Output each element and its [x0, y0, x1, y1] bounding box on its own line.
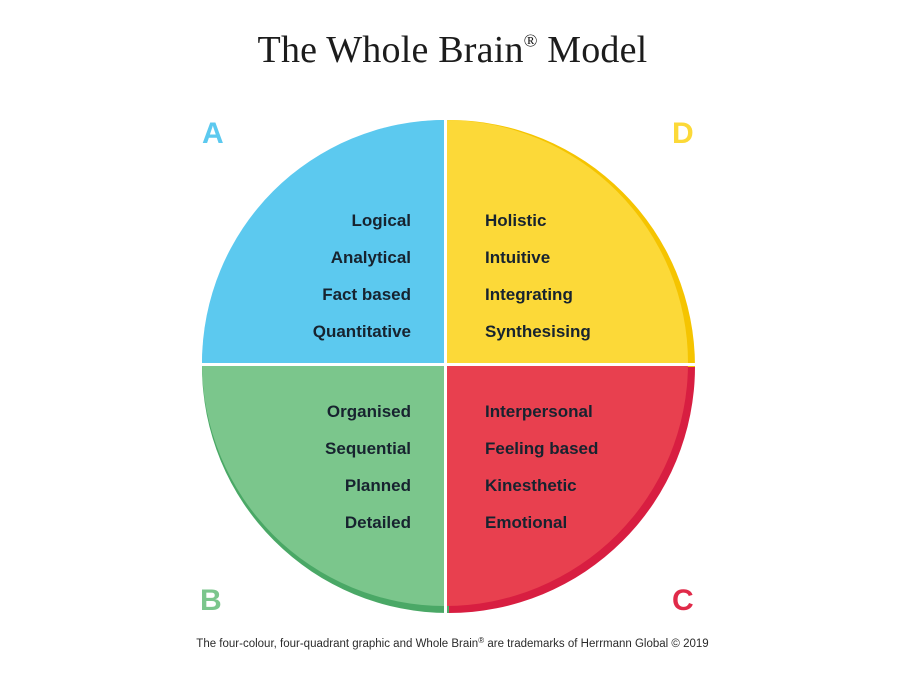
quadrant-a-item: Fact based: [313, 286, 411, 303]
footer-text-suffix: are trademarks of Herrmann Global © 2019: [484, 638, 709, 650]
quadrant-d-item: Holistic: [485, 212, 591, 229]
quadrant-a-item: Quantitative: [313, 323, 411, 340]
quadrant-label-c: C: [672, 586, 694, 616]
quadrant-a-item: Analytical: [313, 249, 411, 266]
quadrant-label-d: D: [672, 119, 694, 149]
quadrant-label-a: A: [202, 119, 224, 149]
quadrant-d-item: Intuitive: [485, 249, 591, 266]
quadrant-a-item: Logical: [313, 212, 411, 229]
footer-text: The four-colour, four-quadrant graphic a…: [196, 638, 478, 650]
quadrant-b-item: Organised: [325, 403, 411, 420]
horizontal-divider: [202, 363, 695, 366]
page-title: The Whole Brain® Model: [0, 28, 905, 72]
quadrant-d-word-list: Holistic Intuitive Integrating Synthesis…: [485, 212, 591, 340]
quadrant-c-item: Feeling based: [485, 440, 598, 457]
quadrant-c-item: Interpersonal: [485, 403, 598, 420]
quadrant-c-item: Kinesthetic: [485, 477, 598, 494]
quadrant-d-item: Synthesising: [485, 323, 591, 340]
quadrant-b-item: Planned: [325, 477, 411, 494]
trademark-footer: The four-colour, four-quadrant graphic a…: [0, 636, 905, 650]
quadrant-c-word-list: Interpersonal Feeling based Kinesthetic …: [485, 403, 598, 531]
quadrant-b-item: Sequential: [325, 440, 411, 457]
quadrant-label-b: B: [200, 586, 222, 616]
registered-trademark-icon: ®: [524, 31, 538, 51]
vertical-divider: [444, 120, 447, 613]
quadrant-d-item: Integrating: [485, 286, 591, 303]
quadrant-b-item: Detailed: [325, 514, 411, 531]
quadrant-b-word-list: Organised Sequential Planned Detailed: [325, 403, 411, 531]
whole-brain-quadrant-diagram: [202, 120, 695, 613]
page-title-suffix: Model: [538, 29, 648, 71]
quadrant-a-word-list: Logical Analytical Fact based Quantitati…: [313, 212, 411, 340]
page-title-text: The Whole Brain: [258, 29, 524, 71]
quadrant-c-item: Emotional: [485, 514, 598, 531]
